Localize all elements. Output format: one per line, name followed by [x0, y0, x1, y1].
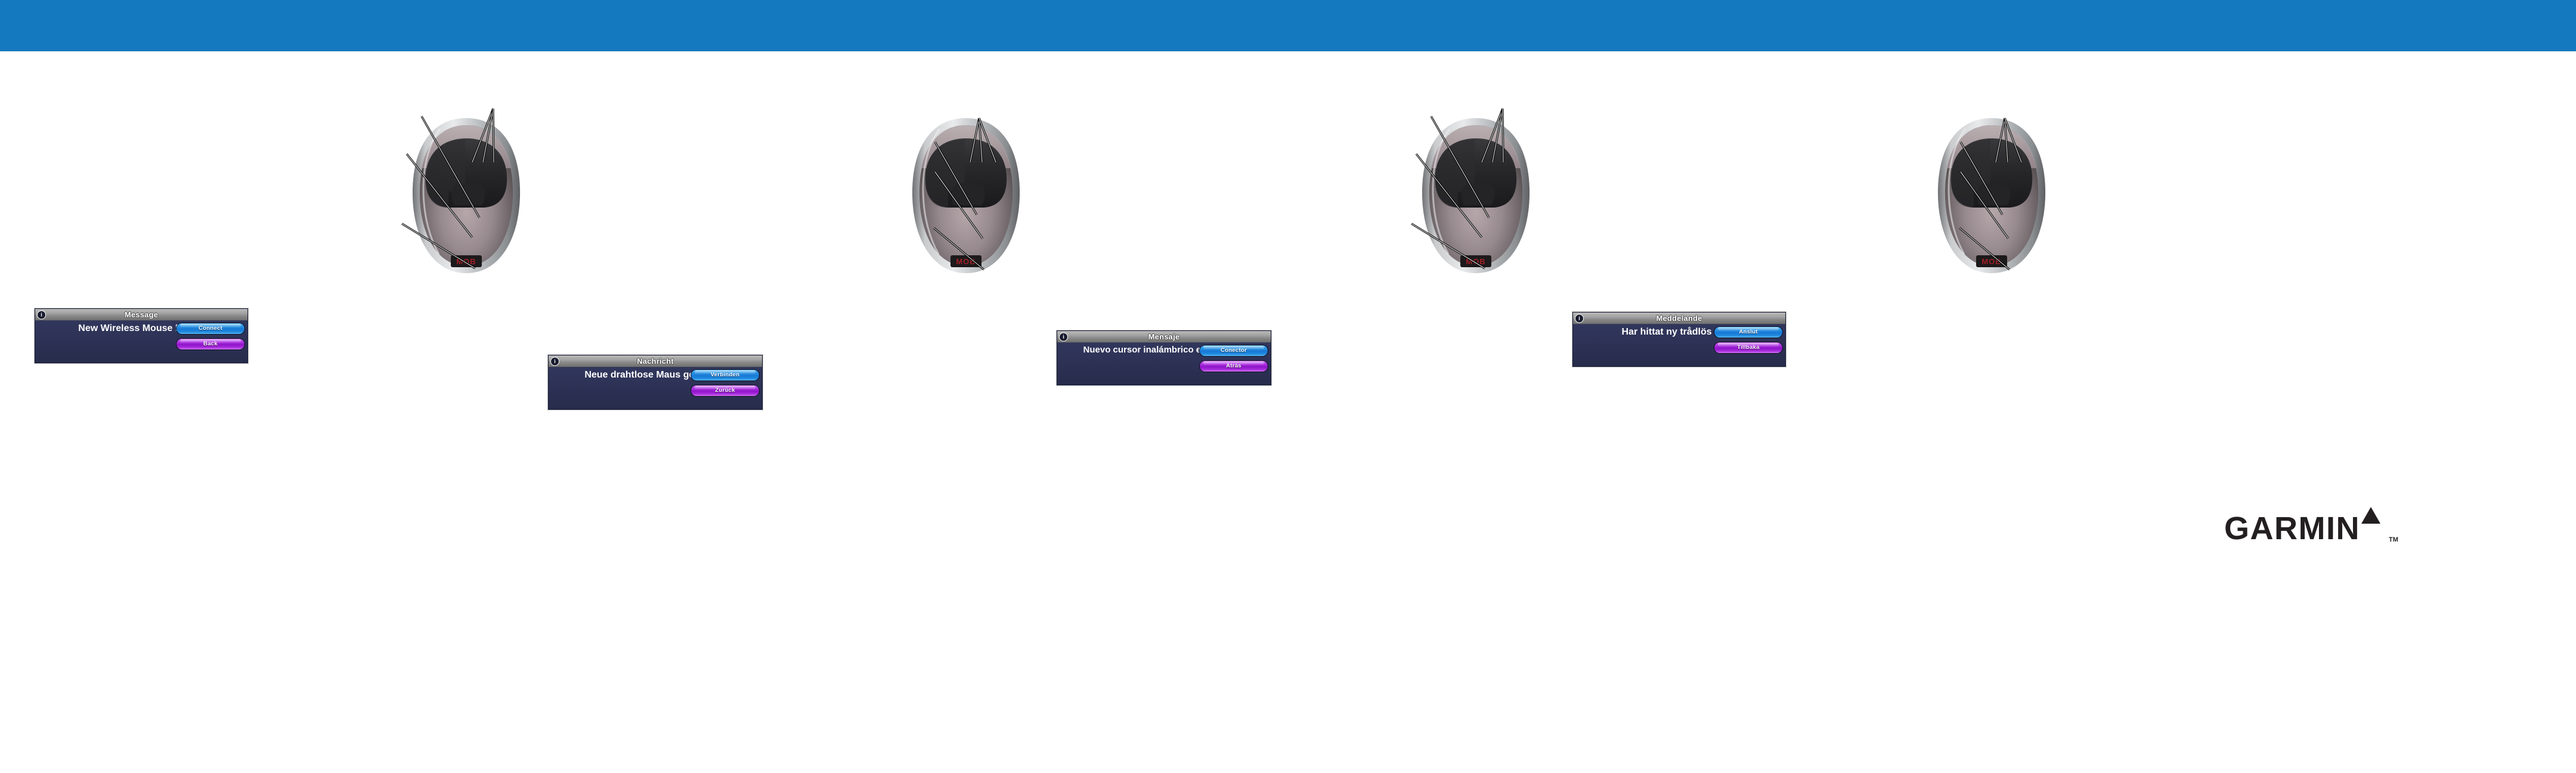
connect-button[interactable]: Verbinden	[691, 369, 760, 381]
dialog-titlebar: i Meddelande	[1573, 313, 1785, 324]
wireless-mouse-illustration: MOB	[888, 95, 1044, 292]
message-dialog: i Message New Wireless Mouse Found Conne…	[35, 308, 248, 363]
connect-button-label: Anslut	[1714, 327, 1782, 338]
dialog-body: Neue drahtlose Maus gefunden Verbinden Z…	[549, 367, 762, 409]
info-icon: i	[37, 310, 46, 319]
back-button[interactable]: Back	[176, 338, 245, 350]
dialog-button-group: Anslut Tillbaka	[1714, 326, 1783, 357]
info-icon: i	[1575, 314, 1584, 323]
dialog-titlebar: i Message	[35, 309, 247, 321]
dialog-titlebar: i Mensaje	[1057, 331, 1271, 343]
back-button-label: Atrás	[1200, 361, 1268, 372]
message-dialog: i Nachricht Neue drahtlose Maus gefunden…	[548, 355, 763, 410]
dialog-body: Nuevo cursor inalámbrico encontrado Cone…	[1057, 343, 1271, 385]
dialog-button-group: Conector Atrás	[1199, 345, 1268, 376]
info-icon: i	[550, 357, 559, 366]
svg-text:GARMIN: GARMIN	[2224, 511, 2360, 546]
wireless-mouse-illustration: MOB	[389, 95, 544, 292]
page-canvas: MOB	[0, 0, 2576, 773]
back-button-label: Back	[177, 339, 244, 350]
dialog-titlebar: i Nachricht	[549, 355, 762, 367]
dialog-title: Message	[125, 311, 158, 319]
back-button[interactable]: Atrás	[1199, 360, 1268, 372]
dialog-title: Mensaje	[1148, 333, 1180, 341]
back-button-label: Zurück	[691, 385, 759, 396]
dialog-body: Har hittat ny trådlös mus. Anslut Tillba…	[1573, 324, 1785, 366]
garmin-logo: GARMIN TM	[2224, 500, 2403, 554]
dialog-button-group: Verbinden Zurück	[691, 369, 760, 400]
top-banner	[0, 0, 2576, 51]
wireless-mouse-illustration: MOB	[1398, 95, 1553, 292]
connect-button-label: Connect	[177, 323, 244, 334]
dialog-title: Nachricht	[637, 357, 674, 365]
message-dialog: i Meddelande Har hittat ny trådlös mus. …	[1572, 312, 1786, 367]
connect-button[interactable]: Anslut	[1714, 326, 1783, 338]
svg-text:TM: TM	[2389, 536, 2398, 543]
connect-button[interactable]: Conector	[1199, 345, 1268, 357]
connect-button-label: Conector	[1200, 345, 1268, 356]
dialog-button-group: Connect Back	[176, 323, 245, 354]
back-button[interactable]: Zurück	[691, 385, 760, 397]
back-button[interactable]: Tillbaka	[1714, 342, 1783, 354]
connect-button-label: Verbinden	[691, 370, 759, 381]
info-icon: i	[1059, 332, 1068, 341]
back-button-label: Tillbaka	[1714, 342, 1782, 353]
wireless-mouse-illustration: MOB	[1914, 95, 2069, 292]
dialog-body: New Wireless Mouse Found Connect Back	[35, 321, 247, 363]
connect-button[interactable]: Connect	[176, 323, 245, 335]
message-dialog: i Mensaje Nuevo cursor inalámbrico encon…	[1057, 330, 1271, 385]
dialog-title: Meddelande	[1656, 314, 1702, 322]
